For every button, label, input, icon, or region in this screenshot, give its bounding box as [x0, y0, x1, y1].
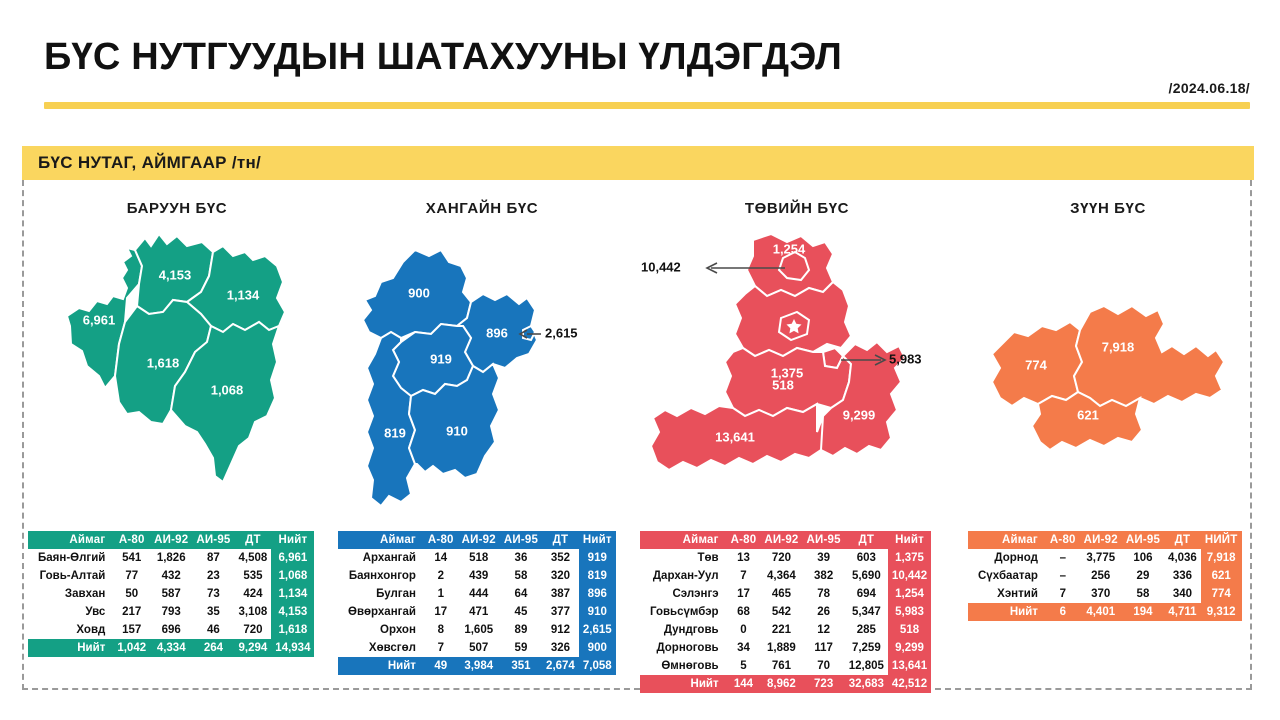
- table-row: Говь-Алтай77432235351,068: [28, 567, 314, 585]
- cell-ai92: 587: [150, 585, 192, 603]
- map-label-khangai-4: 910: [446, 423, 468, 438]
- table-row: Хөвсгөл750759326900: [338, 639, 616, 657]
- map-label-east-0: 774: [1025, 357, 1047, 372]
- map-label-west-3: 1,618: [147, 355, 180, 370]
- cell-total-sum: 14,934: [271, 639, 314, 657]
- cell-ai92: 696: [150, 621, 192, 639]
- cell-ai95: 23: [192, 567, 234, 585]
- cell-dt: 424: [235, 585, 272, 603]
- map-label-khangai-5: 2,615: [545, 325, 578, 340]
- cell-total-label: Нийт: [640, 675, 727, 693]
- col-a80: А-80: [113, 531, 150, 549]
- map-label-east-1: 7,918: [1101, 339, 1134, 354]
- cell-ai95: 117: [803, 639, 845, 657]
- cell-total: 10,442: [888, 567, 931, 585]
- cell-ai95: 89: [500, 621, 542, 639]
- cell-ai95: 45: [500, 603, 542, 621]
- map-label-khangai-3: 819: [384, 425, 406, 440]
- table-row: Архангай1451836352919: [338, 549, 616, 567]
- cell-ai95: 58: [1122, 585, 1164, 603]
- cell-total: 819: [579, 567, 616, 585]
- cell-aimag: Өмнөговь: [640, 657, 727, 675]
- cell-a80: 34: [727, 639, 761, 657]
- cell-aimag: Ховд: [28, 621, 113, 639]
- table-row: Дундговь022112285518: [640, 621, 931, 639]
- cell-total-ai95: 351: [500, 657, 542, 675]
- region-title-khangai: ХАНГАЙН БҮС: [332, 200, 632, 217]
- cell-aimag: Дорноговь: [640, 639, 727, 657]
- cell-dt: 694: [845, 585, 888, 603]
- cell-total-ai95: 264: [192, 639, 234, 657]
- map-label-west-0: 6,961: [83, 312, 116, 327]
- region-khangai: ХАНГАЙН БҮС 900 896 919 8: [332, 188, 632, 688]
- map-label-khangai-1: 896: [486, 325, 508, 340]
- cell-total-sum: 7,058: [579, 657, 616, 675]
- table-total-row: Нийт1448,96272332,68342,512: [640, 675, 931, 693]
- cell-a80: 68: [727, 603, 761, 621]
- cell-a80: 217: [113, 603, 150, 621]
- region-central: ТӨВИЙН БҮС 1,254: [632, 188, 962, 688]
- col-aimag: Аймаг: [968, 531, 1046, 549]
- cell-ai92: 471: [458, 603, 500, 621]
- cell-aimag: Төв: [640, 549, 727, 567]
- cell-ai95: 70: [803, 657, 845, 675]
- cell-ai92: 1,826: [150, 549, 192, 567]
- infographic-page: БҮС НУТГУУДЫН ШАТАХУУНЫ ҮЛДЭГДЭЛ /2024.0…: [0, 0, 1280, 720]
- cell-ai95: 59: [500, 639, 542, 657]
- cell-aimag: Увс: [28, 603, 113, 621]
- table-row: Баян-Өлгий5411,826874,5086,961: [28, 549, 314, 567]
- cell-a80: 8: [424, 621, 458, 639]
- cell-total-a80: 144: [727, 675, 761, 693]
- cell-ai95: 106: [1122, 549, 1164, 567]
- cell-dt: 12,805: [845, 657, 888, 675]
- map-label-central-0: 1,254: [773, 241, 806, 256]
- table-khangai-body: Архангай1451836352919 Баянхонгор24395832…: [338, 549, 616, 657]
- cell-ai92: 4,364: [760, 567, 802, 585]
- col-ai95: АИ-95: [192, 531, 234, 549]
- cell-a80: 50: [113, 585, 150, 603]
- region-title-central: ТӨВИЙН БҮС: [632, 200, 962, 217]
- cell-a80: 541: [113, 549, 150, 567]
- cell-total: 919: [579, 549, 616, 567]
- col-ai95: АИ-95: [1122, 531, 1164, 549]
- cell-ai95: 87: [192, 549, 234, 567]
- cell-a80: 7: [424, 639, 458, 657]
- table-khangai-foot: Нийт493,9843512,6747,058: [338, 657, 616, 675]
- table-header-row: Аймаг А-80 АИ-92 АИ-95 ДТ Нийт: [28, 531, 314, 549]
- map-label-west-4: 1,068: [211, 382, 244, 397]
- cell-aimag: Говь-Алтай: [28, 567, 113, 585]
- page-title: БҮС НУТГУУДЫН ШАТАХУУНЫ ҮЛДЭГДЭЛ: [44, 36, 842, 79]
- map-east: 774 7,918 621: [962, 226, 1254, 526]
- cell-ai92: 221: [760, 621, 802, 639]
- cell-ai95: 36: [500, 549, 542, 567]
- cell-total-sum: 9,312: [1201, 603, 1242, 621]
- cell-ai92: 439: [458, 567, 500, 585]
- cell-ai92: 444: [458, 585, 500, 603]
- table-row: Булган144464387896: [338, 585, 616, 603]
- cell-a80: 14: [424, 549, 458, 567]
- cell-total-ai92: 8,962: [760, 675, 802, 693]
- map-label-east-2: 621: [1077, 407, 1099, 422]
- map-khangai-shapes: [363, 250, 537, 506]
- table-total-row: Нийт64,4011944,7119,312: [968, 603, 1242, 621]
- map-label-central-1: 10,442: [641, 259, 681, 274]
- cell-dt: 336: [1164, 567, 1201, 585]
- cell-ai92: 720: [760, 549, 802, 567]
- cell-ai92: 1,605: [458, 621, 500, 639]
- cell-dt: 720: [235, 621, 272, 639]
- cell-total: 774: [1201, 585, 1242, 603]
- cell-total: 1,068: [271, 567, 314, 585]
- cell-aimag: Архангай: [338, 549, 424, 567]
- col-dt: ДТ: [1164, 531, 1201, 549]
- col-ai95: АИ-95: [500, 531, 542, 549]
- cell-dt: 3,108: [235, 603, 272, 621]
- cell-ai92: 761: [760, 657, 802, 675]
- cell-total-a80: 1,042: [113, 639, 150, 657]
- cell-total-dt: 9,294: [235, 639, 272, 657]
- cell-a80: 17: [424, 603, 458, 621]
- cell-total: 13,641: [888, 657, 931, 675]
- map-khangai: 900 896 919 819 910 2,615: [332, 226, 632, 526]
- table-row: Увс217793353,1084,153: [28, 603, 314, 621]
- cell-total-ai95: 723: [803, 675, 845, 693]
- cell-dt: 4,036: [1164, 549, 1201, 567]
- table-row: Өмнөговь57617012,80513,641: [640, 657, 931, 675]
- table-total-row: Нийт1,0424,3342649,29414,934: [28, 639, 314, 657]
- cell-total: 6,961: [271, 549, 314, 567]
- cell-total-dt: 4,711: [1164, 603, 1201, 621]
- cell-dt: 320: [542, 567, 579, 585]
- table-central-head: Аймаг А-80 АИ-92 АИ-95 ДТ Нийт: [640, 531, 931, 549]
- col-ai95: АИ-95: [803, 531, 845, 549]
- cell-aimag: Баянхонгор: [338, 567, 424, 585]
- table-west-foot: Нийт1,0424,3342649,29414,934: [28, 639, 314, 657]
- cell-dt: 352: [542, 549, 579, 567]
- cell-ai92: 465: [760, 585, 802, 603]
- col-aimag: Аймаг: [28, 531, 113, 549]
- cell-aimag: Говьсүмбэр: [640, 603, 727, 621]
- table-khangai-head: Аймаг А-80 АИ-92 АИ-95 ДТ Нийт: [338, 531, 616, 549]
- cell-a80: 157: [113, 621, 150, 639]
- cell-ai95: 39: [803, 549, 845, 567]
- col-total: Нийт: [888, 531, 931, 549]
- cell-aimag: Дорнод: [968, 549, 1046, 567]
- cell-ai95: 73: [192, 585, 234, 603]
- cell-ai92: 256: [1080, 567, 1122, 585]
- cell-dt: 603: [845, 549, 888, 567]
- map-east-shapes: [992, 306, 1224, 450]
- table-header-row: Аймаг А-80 АИ-92 АИ-95 ДТ НИЙТ: [968, 531, 1242, 549]
- cell-total-dt: 32,683: [845, 675, 888, 693]
- cell-total-a80: 49: [424, 657, 458, 675]
- table-east: Аймаг А-80 АИ-92 АИ-95 ДТ НИЙТ Дорнод–3,…: [968, 531, 1242, 621]
- cell-aimag: Сэлэнгэ: [640, 585, 727, 603]
- cell-total-label: Нийт: [338, 657, 424, 675]
- cell-total: 910: [579, 603, 616, 621]
- table-row: Сүхбаатар–25629336621: [968, 567, 1242, 585]
- col-dt: ДТ: [845, 531, 888, 549]
- col-total: Нийт: [579, 531, 616, 549]
- cell-ai95: 46: [192, 621, 234, 639]
- cell-total: 1,254: [888, 585, 931, 603]
- region-title-west: БАРУУН БҮС: [22, 200, 332, 217]
- cell-aimag: Булган: [338, 585, 424, 603]
- table-header-row: Аймаг А-80 АИ-92 АИ-95 ДТ Нийт: [338, 531, 616, 549]
- cell-ai92: 793: [150, 603, 192, 621]
- cell-ai95: 12: [803, 621, 845, 639]
- table-row: Завхан50587734241,134: [28, 585, 314, 603]
- cell-dt: 4,508: [235, 549, 272, 567]
- map-central: 1,254 10,442 1,375 5,983 518: [632, 226, 962, 526]
- cell-dt: 326: [542, 639, 579, 657]
- cell-a80: –: [1046, 567, 1080, 585]
- cell-ai92: 432: [150, 567, 192, 585]
- cell-total-ai92: 4,334: [150, 639, 192, 657]
- map-label-central-4: 518: [772, 377, 794, 392]
- table-row: Дархан-Уул74,3643825,69010,442: [640, 567, 931, 585]
- cell-ai95: 29: [1122, 567, 1164, 585]
- cell-a80: –: [1046, 549, 1080, 567]
- col-dt: ДТ: [542, 531, 579, 549]
- cell-ai92: 542: [760, 603, 802, 621]
- cell-a80: 5: [727, 657, 761, 675]
- table-central: Аймаг А-80 АИ-92 АИ-95 ДТ Нийт Төв137203…: [640, 531, 931, 693]
- cell-total: 2,615: [579, 621, 616, 639]
- cell-dt: 7,259: [845, 639, 888, 657]
- cell-total: 5,983: [888, 603, 931, 621]
- cell-aimag: Хэнтий: [968, 585, 1046, 603]
- col-total: Нийт: [271, 531, 314, 549]
- table-east-foot: Нийт64,4011944,7119,312: [968, 603, 1242, 621]
- table-central-foot: Нийт1448,96272332,68342,512: [640, 675, 931, 693]
- date-stamp: /2024.06.18/: [1169, 80, 1250, 96]
- cell-total: 900: [579, 639, 616, 657]
- cell-total: 1,618: [271, 621, 314, 639]
- table-east-body: Дорнод–3,7751064,0367,918 Сүхбаатар–2562…: [968, 549, 1242, 603]
- cell-ai95: 58: [500, 567, 542, 585]
- cell-total-dt: 2,674: [542, 657, 579, 675]
- map-label-west-1: 4,153: [159, 267, 192, 282]
- table-row: Баянхонгор243958320819: [338, 567, 616, 585]
- table-header-row: Аймаг А-80 АИ-92 АИ-95 ДТ Нийт: [640, 531, 931, 549]
- map-label-central-3: 5,983: [889, 351, 922, 366]
- cell-ai92: 1,889: [760, 639, 802, 657]
- col-ai92: АИ-92: [760, 531, 802, 549]
- col-ai92: АИ-92: [458, 531, 500, 549]
- cell-dt: 5,347: [845, 603, 888, 621]
- table-row: Ховд157696467201,618: [28, 621, 314, 639]
- cell-total: 896: [579, 585, 616, 603]
- cell-total-sum: 42,512: [888, 675, 931, 693]
- cell-a80: 13: [727, 549, 761, 567]
- col-aimag: Аймаг: [640, 531, 727, 549]
- cell-ai95: 382: [803, 567, 845, 585]
- map-label-khangai-2: 919: [430, 351, 452, 366]
- cell-total: 7,918: [1201, 549, 1242, 567]
- cell-dt: 340: [1164, 585, 1201, 603]
- regions-container: БАРУУН БҮС 6,961 4,153 1,134 1,618: [22, 188, 1254, 688]
- col-a80: А-80: [1046, 531, 1080, 549]
- map-label-central-6: 13,641: [715, 429, 755, 444]
- cell-aimag: Сүхбаатар: [968, 567, 1046, 585]
- cell-a80: 17: [727, 585, 761, 603]
- cell-dt: 535: [235, 567, 272, 585]
- table-row: Говьсүмбэр68542265,3475,983: [640, 603, 931, 621]
- region-west: БАРУУН БҮС 6,961 4,153 1,134 1,618: [22, 188, 332, 688]
- cell-aimag: Орхон: [338, 621, 424, 639]
- map-central-shapes: [651, 234, 905, 470]
- map-label-west-2: 1,134: [227, 287, 260, 302]
- cell-total-label: Нийт: [968, 603, 1046, 621]
- cell-total: 621: [1201, 567, 1242, 585]
- cell-ai92: 3,775: [1080, 549, 1122, 567]
- table-west: Аймаг А-80 АИ-92 АИ-95 ДТ Нийт Баян-Өлги…: [28, 531, 314, 657]
- cell-total: 1,134: [271, 585, 314, 603]
- table-row: Төв13720396031,375: [640, 549, 931, 567]
- col-total: НИЙТ: [1201, 531, 1242, 549]
- col-ai92: АИ-92: [1080, 531, 1122, 549]
- map-label-central-5: 9,299: [843, 407, 876, 422]
- cell-ai95: 64: [500, 585, 542, 603]
- col-a80: А-80: [727, 531, 761, 549]
- cell-a80: 0: [727, 621, 761, 639]
- table-row: Орхон81,605899122,615: [338, 621, 616, 639]
- table-row: Дорнод–3,7751064,0367,918: [968, 549, 1242, 567]
- cell-a80: 1: [424, 585, 458, 603]
- table-total-row: Нийт493,9843512,6747,058: [338, 657, 616, 675]
- cell-ai92: 518: [458, 549, 500, 567]
- cell-dt: 377: [542, 603, 579, 621]
- cell-ai95: 78: [803, 585, 845, 603]
- cell-a80: 2: [424, 567, 458, 585]
- table-east-head: Аймаг А-80 АИ-92 АИ-95 ДТ НИЙТ: [968, 531, 1242, 549]
- cell-total-ai92: 4,401: [1080, 603, 1122, 621]
- col-aimag: Аймаг: [338, 531, 424, 549]
- cell-total-ai95: 194: [1122, 603, 1164, 621]
- table-row: Хэнтий737058340774: [968, 585, 1242, 603]
- table-row: Дорноговь341,8891177,2599,299: [640, 639, 931, 657]
- col-ai92: АИ-92: [150, 531, 192, 549]
- cell-total-label: Нийт: [28, 639, 113, 657]
- map-west: 6,961 4,153 1,134 1,618 1,068: [22, 226, 332, 526]
- table-west-head: Аймаг А-80 АИ-92 АИ-95 ДТ Нийт: [28, 531, 314, 549]
- cell-aimag: Хөвсгөл: [338, 639, 424, 657]
- title-underline-rule: [44, 102, 1250, 109]
- section-header-band: БҮС НУТАГ, АЙМГААР /тн/: [22, 146, 1254, 180]
- table-row: Өвөрхангай1747145377910: [338, 603, 616, 621]
- map-label-khangai-0: 900: [408, 285, 430, 300]
- cell-dt: 912: [542, 621, 579, 639]
- region-title-east: ЗҮҮН БҮС: [962, 200, 1254, 217]
- cell-dt: 285: [845, 621, 888, 639]
- region-east: ЗҮҮН БҮС 774 7,918 621: [962, 188, 1254, 688]
- cell-a80: 77: [113, 567, 150, 585]
- cell-ai92: 507: [458, 639, 500, 657]
- table-west-body: Баян-Өлгий5411,826874,5086,961 Говь-Алта…: [28, 549, 314, 639]
- cell-total-a80: 6: [1046, 603, 1080, 621]
- aimag-shape-dornod: [1074, 306, 1224, 406]
- cell-dt: 5,690: [845, 567, 888, 585]
- table-khangai: Аймаг А-80 АИ-92 АИ-95 ДТ Нийт Архангай1…: [338, 531, 616, 675]
- cell-aimag: Дундговь: [640, 621, 727, 639]
- cell-aimag: Өвөрхангай: [338, 603, 424, 621]
- cell-dt: 387: [542, 585, 579, 603]
- cell-ai92: 370: [1080, 585, 1122, 603]
- table-row: Сэлэнгэ17465786941,254: [640, 585, 931, 603]
- cell-total: 4,153: [271, 603, 314, 621]
- cell-total: 1,375: [888, 549, 931, 567]
- section-header-label: БҮС НУТАГ, АЙМГААР /тн/: [38, 153, 261, 173]
- cell-aimag: Баян-Өлгий: [28, 549, 113, 567]
- col-a80: А-80: [424, 531, 458, 549]
- cell-a80: 7: [1046, 585, 1080, 603]
- cell-ai95: 26: [803, 603, 845, 621]
- cell-total-ai92: 3,984: [458, 657, 500, 675]
- table-central-body: Төв13720396031,375 Дархан-Уул74,3643825,…: [640, 549, 931, 675]
- cell-total: 9,299: [888, 639, 931, 657]
- cell-ai95: 35: [192, 603, 234, 621]
- col-dt: ДТ: [235, 531, 272, 549]
- cell-aimag: Завхан: [28, 585, 113, 603]
- cell-total: 518: [888, 621, 931, 639]
- cell-a80: 7: [727, 567, 761, 585]
- cell-aimag: Дархан-Уул: [640, 567, 727, 585]
